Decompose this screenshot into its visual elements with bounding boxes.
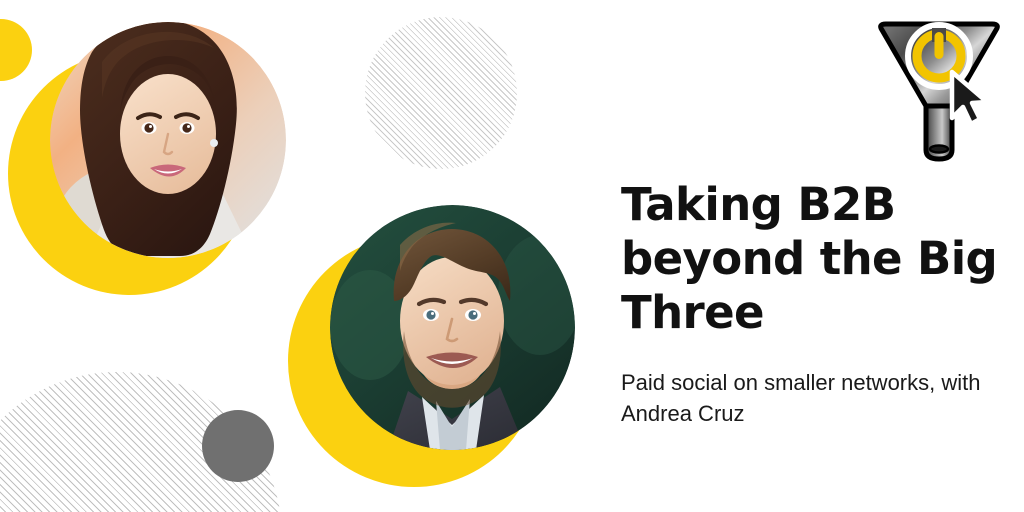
hatched-circle-decoration-top <box>365 17 517 169</box>
gray-dot-decoration <box>202 410 274 482</box>
funnel-power-cursor-logo-icon <box>866 8 1012 168</box>
podcast-episode-cover: Taking B2B beyond the Big Three Paid soc… <box>0 0 1024 512</box>
episode-subtitle: Paid social on smaller networks, with An… <box>621 367 1011 429</box>
corner-dot-decoration <box>0 19 32 81</box>
episode-title: Taking B2B beyond the Big Three <box>621 178 1001 340</box>
portrait-two-photo <box>330 205 575 450</box>
portrait-one-photo <box>50 22 286 258</box>
